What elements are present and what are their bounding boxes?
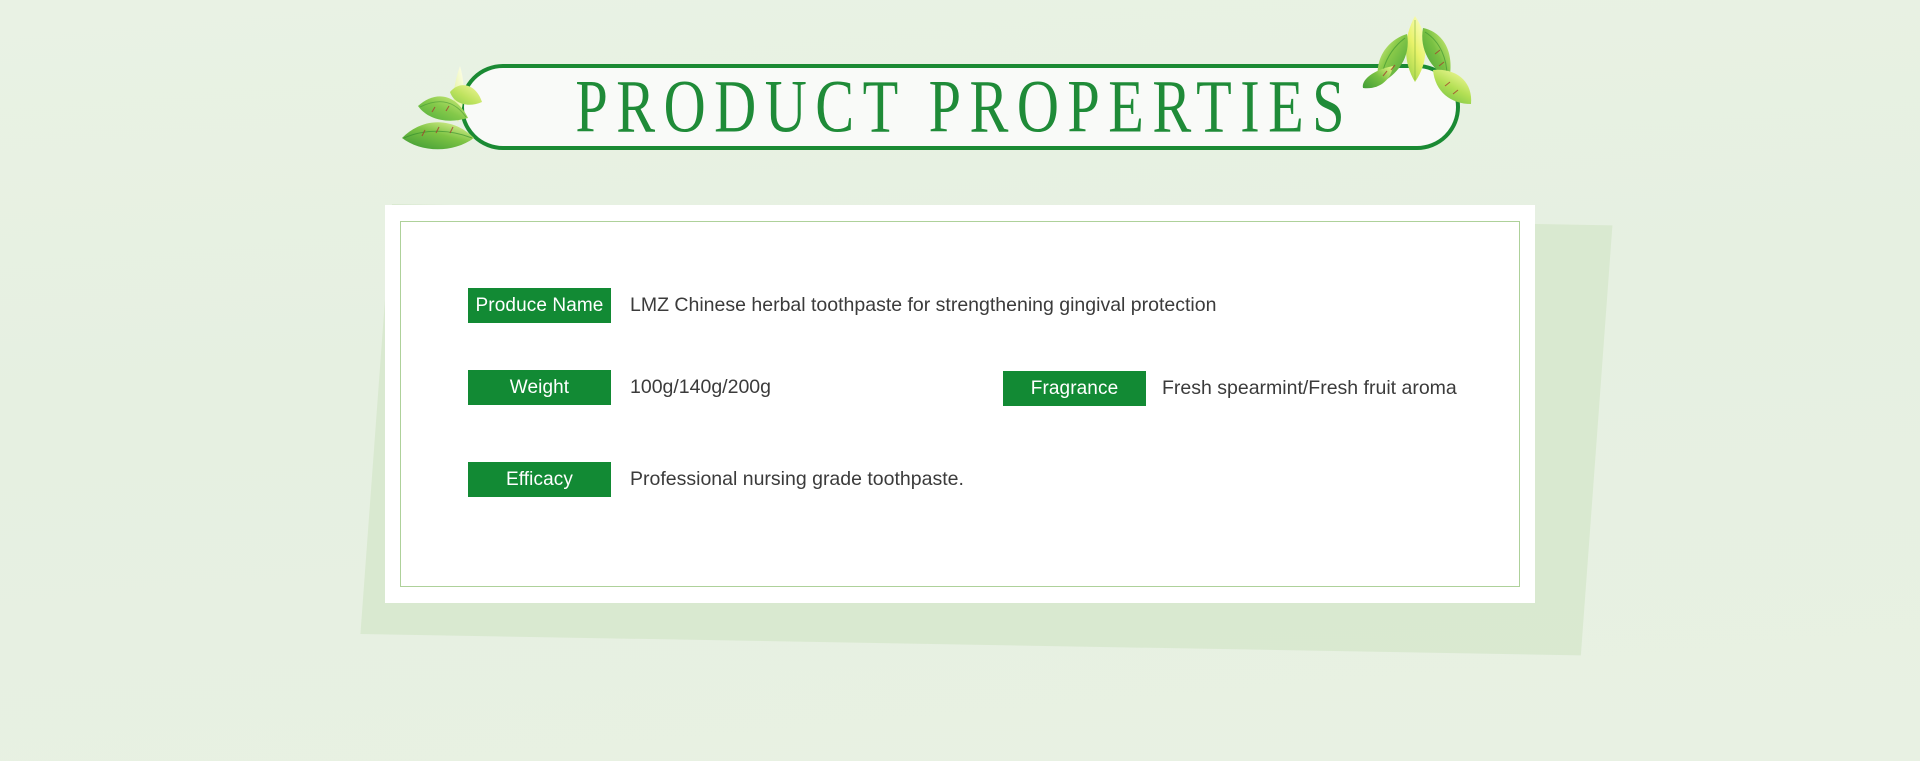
- spec-row-fragrance: Fragrance Fresh spearmint/Fresh fruit ar…: [1003, 371, 1457, 406]
- spec-value-efficacy: Professional nursing grade toothpaste.: [630, 468, 964, 491]
- spec-label-produce-name: Produce Name: [468, 288, 611, 323]
- spec-value-weight: 100g/140g/200g: [630, 376, 771, 399]
- spec-label-fragrance: Fragrance: [1003, 371, 1146, 406]
- spec-value-fragrance: Fresh spearmint/Fresh fruit aroma: [1162, 377, 1457, 400]
- spec-row-weight: Weight 100g/140g/200g: [468, 370, 771, 405]
- product-properties-page: PRODUCT PROPERTIES: [0, 0, 1920, 761]
- spec-row-efficacy: Efficacy Professional nursing grade toot…: [468, 462, 964, 497]
- spec-label-weight: Weight: [468, 370, 611, 405]
- spec-row-produce-name: Produce Name LMZ Chinese herbal toothpas…: [468, 288, 1216, 323]
- spec-list: Produce Name LMZ Chinese herbal toothpas…: [0, 0, 1920, 761]
- spec-label-efficacy: Efficacy: [468, 462, 611, 497]
- spec-value-produce-name: LMZ Chinese herbal toothpaste for streng…: [630, 294, 1216, 317]
